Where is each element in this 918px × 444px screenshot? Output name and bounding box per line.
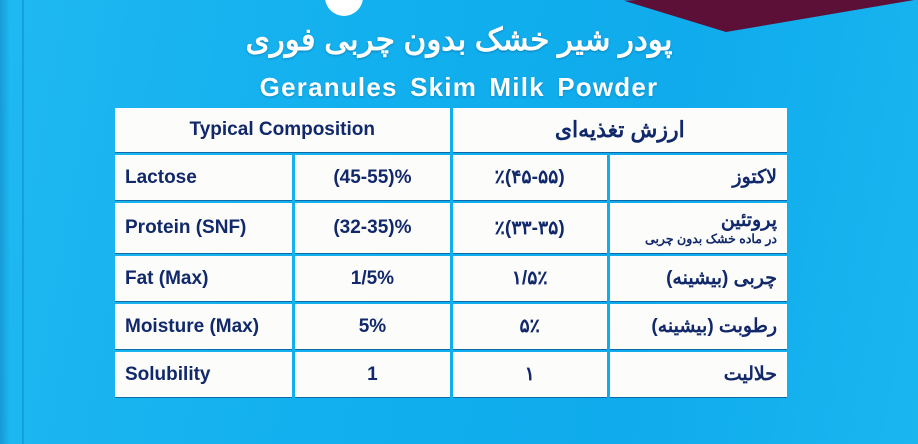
row-value-en: (45-55)% xyxy=(295,155,449,200)
table-row: Lactose (45-55)% (۴۵-۵۵)٪ لاکتوز xyxy=(115,155,787,200)
nutrition-table: Typical Composition ارزش تغذیه‌ای Lactos… xyxy=(112,105,790,400)
row-value-fa: (۴۵-۵۵)٪ xyxy=(453,155,607,200)
table-header-row: Typical Composition ارزش تغذیه‌ای xyxy=(115,108,787,152)
row-name-fa: پروتئین در ماده خشک بدون چربی xyxy=(610,203,787,253)
table-row: Moisture (Max) 5% ۵٪ رطوبت (بیشینه) xyxy=(115,304,787,349)
package-edge-shadow xyxy=(0,0,10,444)
row-value-fa: ۱/۵٪ xyxy=(453,256,607,301)
row-value-fa: (۳۳-۳۵)٪ xyxy=(453,203,607,253)
row-name-fa: رطوبت (بیشینه) xyxy=(610,304,787,349)
row-name-en: Solubility xyxy=(115,352,292,397)
row-name-en: Protein (SNF) xyxy=(115,203,292,253)
table-row: Solubility 1 ۱ حلالیت xyxy=(115,352,787,397)
package-crease-line xyxy=(22,0,24,444)
row-name-fa: چربی (بیشینه) xyxy=(610,256,787,301)
row-value-en: (32-35)% xyxy=(295,203,449,253)
table-row: Protein (SNF) (32-35)% (۳۳-۳۵)٪ پروتئین … xyxy=(115,203,787,253)
product-title-persian: پودر شیر خشک بدون چربی فوری xyxy=(0,22,918,58)
row-name-en: Lactose xyxy=(115,155,292,200)
row-value-en: 1/5% xyxy=(295,256,449,301)
row-name-en: Fat (Max) xyxy=(115,256,292,301)
row-value-en: 1 xyxy=(295,352,449,397)
header-typical-composition: Typical Composition xyxy=(115,108,450,152)
row-value-fa: ۵٪ xyxy=(453,304,607,349)
row-name-fa-subtext: در ماده خشک بدون چربی xyxy=(620,233,777,247)
row-name-fa: حلالیت xyxy=(610,352,787,397)
row-value-fa: ۱ xyxy=(453,352,607,397)
product-title-english: Geranules Skim Milk Powder xyxy=(0,72,918,103)
row-name-en: Moisture (Max) xyxy=(115,304,292,349)
header-nutritional-value: ارزش تغذیه‌ای xyxy=(453,108,787,152)
row-name-fa-main: پروتئین xyxy=(721,210,777,231)
row-name-fa: لاکتوز xyxy=(610,155,787,200)
table-row: Fat (Max) 1/5% ۱/۵٪ چربی (بیشینه) xyxy=(115,256,787,301)
row-value-en: 5% xyxy=(295,304,449,349)
